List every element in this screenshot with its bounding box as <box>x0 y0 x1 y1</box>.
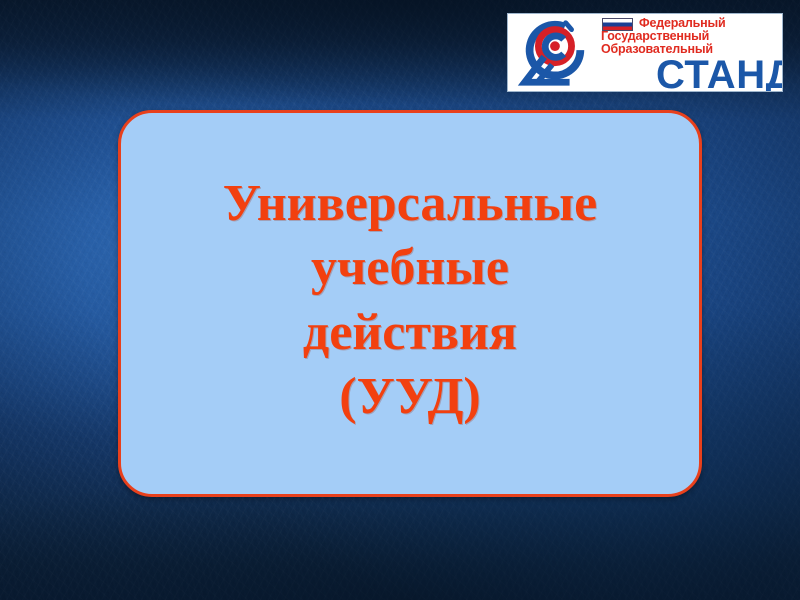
russian-flag-icon <box>602 18 633 31</box>
title-line-4: (УУД) <box>223 365 597 429</box>
standard-logo-wordmark: СТАНДАРТ <box>656 55 783 92</box>
slide-title: Универсальные учебные действия (УУД) <box>223 172 597 436</box>
slide-canvas: Федеральный Государственный Образователь… <box>0 0 800 600</box>
title-line-3: действия <box>223 301 597 365</box>
title-line-1: Универсальные <box>223 172 597 236</box>
title-content-box: Универсальные учебные действия (УУД) <box>118 110 702 497</box>
standard-logo-text-group: Федеральный Государственный Образователь… <box>600 14 782 91</box>
standard-emblem-icon <box>508 14 600 91</box>
title-line-2: учебные <box>223 236 597 300</box>
standard-logo-card: Федеральный Государственный Образователь… <box>507 13 783 92</box>
